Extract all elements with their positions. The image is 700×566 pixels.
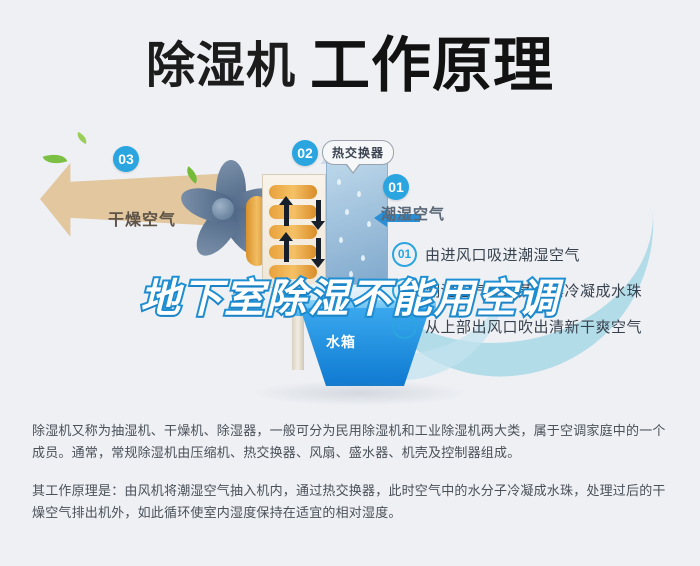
ground-shadow [250, 380, 470, 406]
step-number: 01 [392, 242, 417, 267]
step-text: 由进风口吸进潮湿空气 [425, 244, 580, 265]
title-part-1: 除湿机 [146, 42, 296, 91]
title-part-2: 工作原理 [310, 36, 554, 96]
page-title: 除湿机 工作原理 [0, 26, 700, 106]
water-tank-label: 水箱 [326, 332, 356, 352]
badge-01-humid-air: 01 [383, 174, 409, 200]
infographic-page: 除湿机 工作原理 干燥空气 [0, 0, 700, 566]
badge-03-dry-air: 03 [113, 146, 139, 172]
badge-02-heat-exchanger: 02 [292, 140, 318, 166]
heat-exchanger-callout: 热交换器 [322, 140, 394, 165]
paragraph-1: 除湿机又称为抽湿机、干燥机、除湿器，一般可分为民用除湿机和工业除湿机两大类，属于… [32, 420, 672, 464]
humid-air-label: 潮湿空气 [381, 203, 445, 224]
leaf-icon [75, 132, 89, 144]
dry-air-label: 干燥空气 [108, 206, 176, 230]
paragraph-2: 其工作原理是：由风机将潮湿空气抽入机内，通过热交换器，此时空气中的水分子冷凝成水… [32, 480, 672, 524]
overlay-headline: 地下室除湿不能用空调 [0, 266, 700, 324]
body-copy: 除湿机又称为抽湿机、干燥机、除湿器，一般可分为民用除湿机和工业除湿机两大类，属于… [32, 420, 672, 540]
list-item: 01 由进风口吸进潮湿空气 [392, 243, 692, 265]
leaf-icon [43, 150, 68, 168]
